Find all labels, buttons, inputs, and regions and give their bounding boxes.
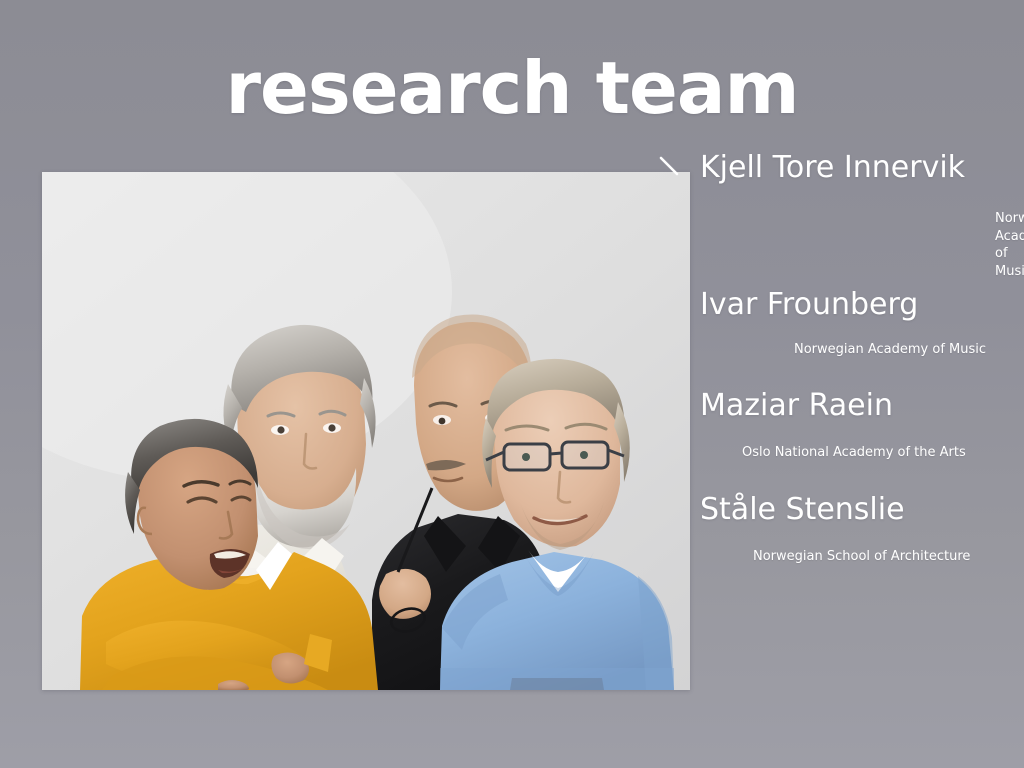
team-member-name: Ståle Stenslie	[700, 494, 970, 526]
team-member-ivar-frounberg: Ivar Frounberg Norwegian Academy of Musi…	[700, 289, 986, 358]
team-member-kjell-tore-innervik: Kjell Tore Innervik Norwegian Academy of…	[700, 152, 965, 184]
team-member-affiliation: Norwegian School of Architecture	[753, 548, 970, 566]
team-member-affiliation: Oslo National Academy of the Arts	[742, 444, 966, 462]
team-member-name: Kjell Tore Innervik	[700, 152, 965, 184]
presentation-slide: research team	[0, 0, 1024, 768]
team-member-stale-stenslie: Ståle Stenslie Norwegian School of Archi…	[700, 494, 970, 565]
team-member-name: Maziar Raein	[700, 390, 966, 422]
team-photo	[42, 172, 690, 690]
team-member-name: Ivar Frounberg	[700, 289, 986, 321]
team-member-affiliation: Norwegian Academy of Music	[995, 210, 1024, 280]
team-member-affiliation: Norwegian Academy of Music	[794, 341, 986, 359]
page-title: research team	[0, 52, 1024, 124]
team-member-maziar-raein: Maziar Raein Oslo National Academy of th…	[700, 390, 966, 461]
